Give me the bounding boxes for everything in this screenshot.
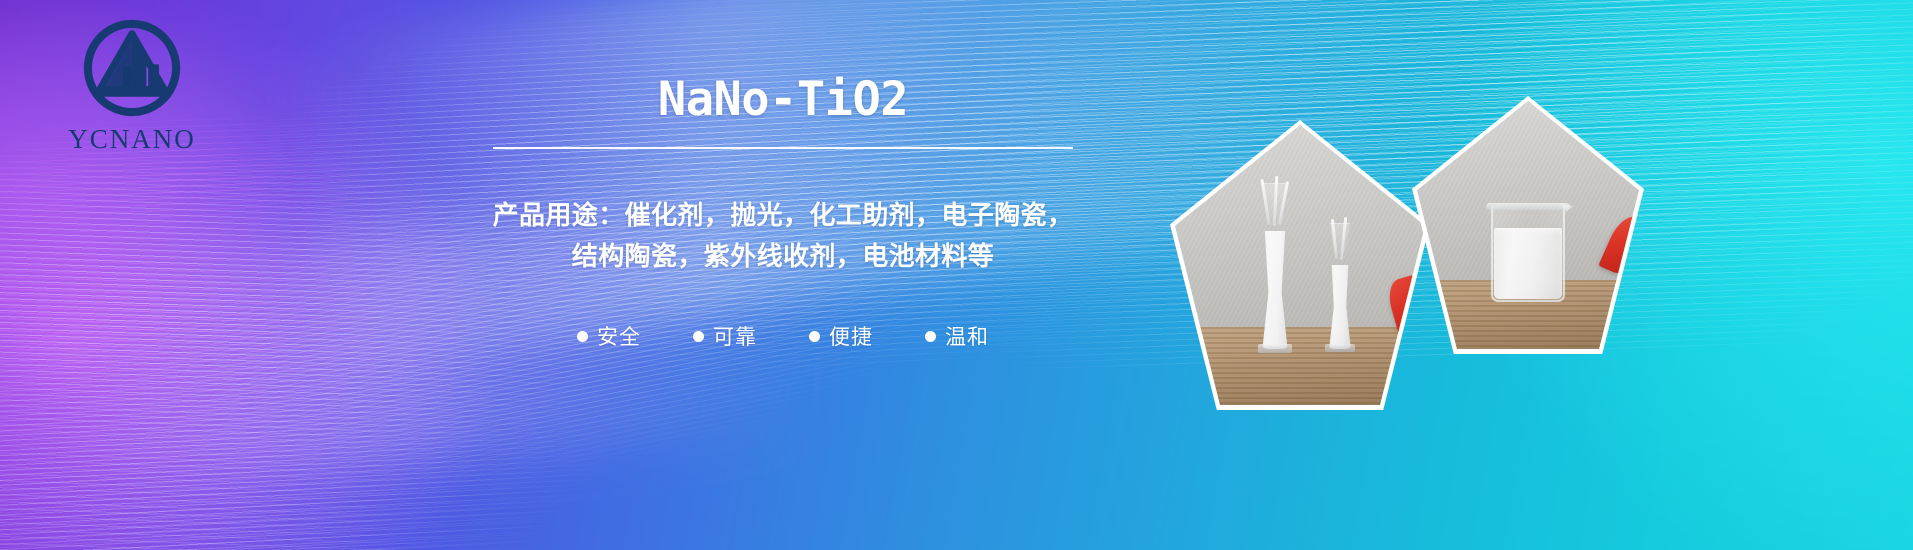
beaker-liquid [1494,228,1562,299]
photo-wood-table [1175,327,1425,405]
beaker-with-suspension [1491,206,1565,302]
product-photo-pentagon-2 [1412,96,1644,354]
feature-list: 安全 可靠 便捷 温和 [577,321,989,351]
product-photo-pentagon-1 [1170,120,1430,410]
hero-content: NaNo-TiO2 产品用途：催化剂，抛光，化工助剂，电子陶瓷， 结构陶瓷，紫外… [473,0,1093,550]
photo-scene-1 [1175,125,1425,405]
product-banner: YCNANO NaNo-TiO2 产品用途：催化剂，抛光，化工助剂，电子陶瓷， … [0,0,1913,550]
product-photo-1-image [1175,125,1425,405]
feature-item-safe: 安全 [577,321,641,351]
vessel-body [1327,265,1353,349]
dot-icon [925,331,936,342]
feature-label-safe: 安全 [597,321,641,351]
title-divider [493,147,1073,149]
feature-label-reliable: 可靠 [713,321,757,351]
vessel-body [1260,231,1290,349]
brand-logo: YCNANO [42,14,222,164]
description-line-1: 产品用途：催化剂，抛光，化工助剂，电子陶瓷， [483,196,1083,237]
feature-item-reliable: 可靠 [693,321,757,351]
page-title: NaNo-TiO2 [658,76,908,123]
product-photo-group [1130,0,1913,550]
vessel-base [1258,344,1292,353]
feature-label-convenient: 便捷 [829,321,873,351]
ycnano-triangle-circle-logo-icon [78,14,186,122]
photo-scene-2 [1417,101,1639,349]
dot-icon [577,331,588,342]
dot-icon [809,331,820,342]
feature-item-mild: 温和 [925,321,989,351]
short-white-vessel [1327,245,1353,349]
feature-item-convenient: 便捷 [809,321,873,351]
dot-icon [693,331,704,342]
beaker-rim [1486,203,1570,210]
brand-wordmark: YCNANO [68,124,196,155]
feature-label-mild: 温和 [945,321,989,351]
product-description: 产品用途：催化剂，抛光，化工助剂，电子陶瓷， 结构陶瓷，紫外线收剂，电池材料等 [483,196,1083,278]
product-photo-2-image [1417,101,1639,349]
photo-backdrop-wall [1175,125,1425,327]
description-line-2: 结构陶瓷，紫外线收剂，电池材料等 [483,237,1083,278]
tall-white-vessel [1260,209,1290,349]
vessel-base [1325,344,1355,352]
